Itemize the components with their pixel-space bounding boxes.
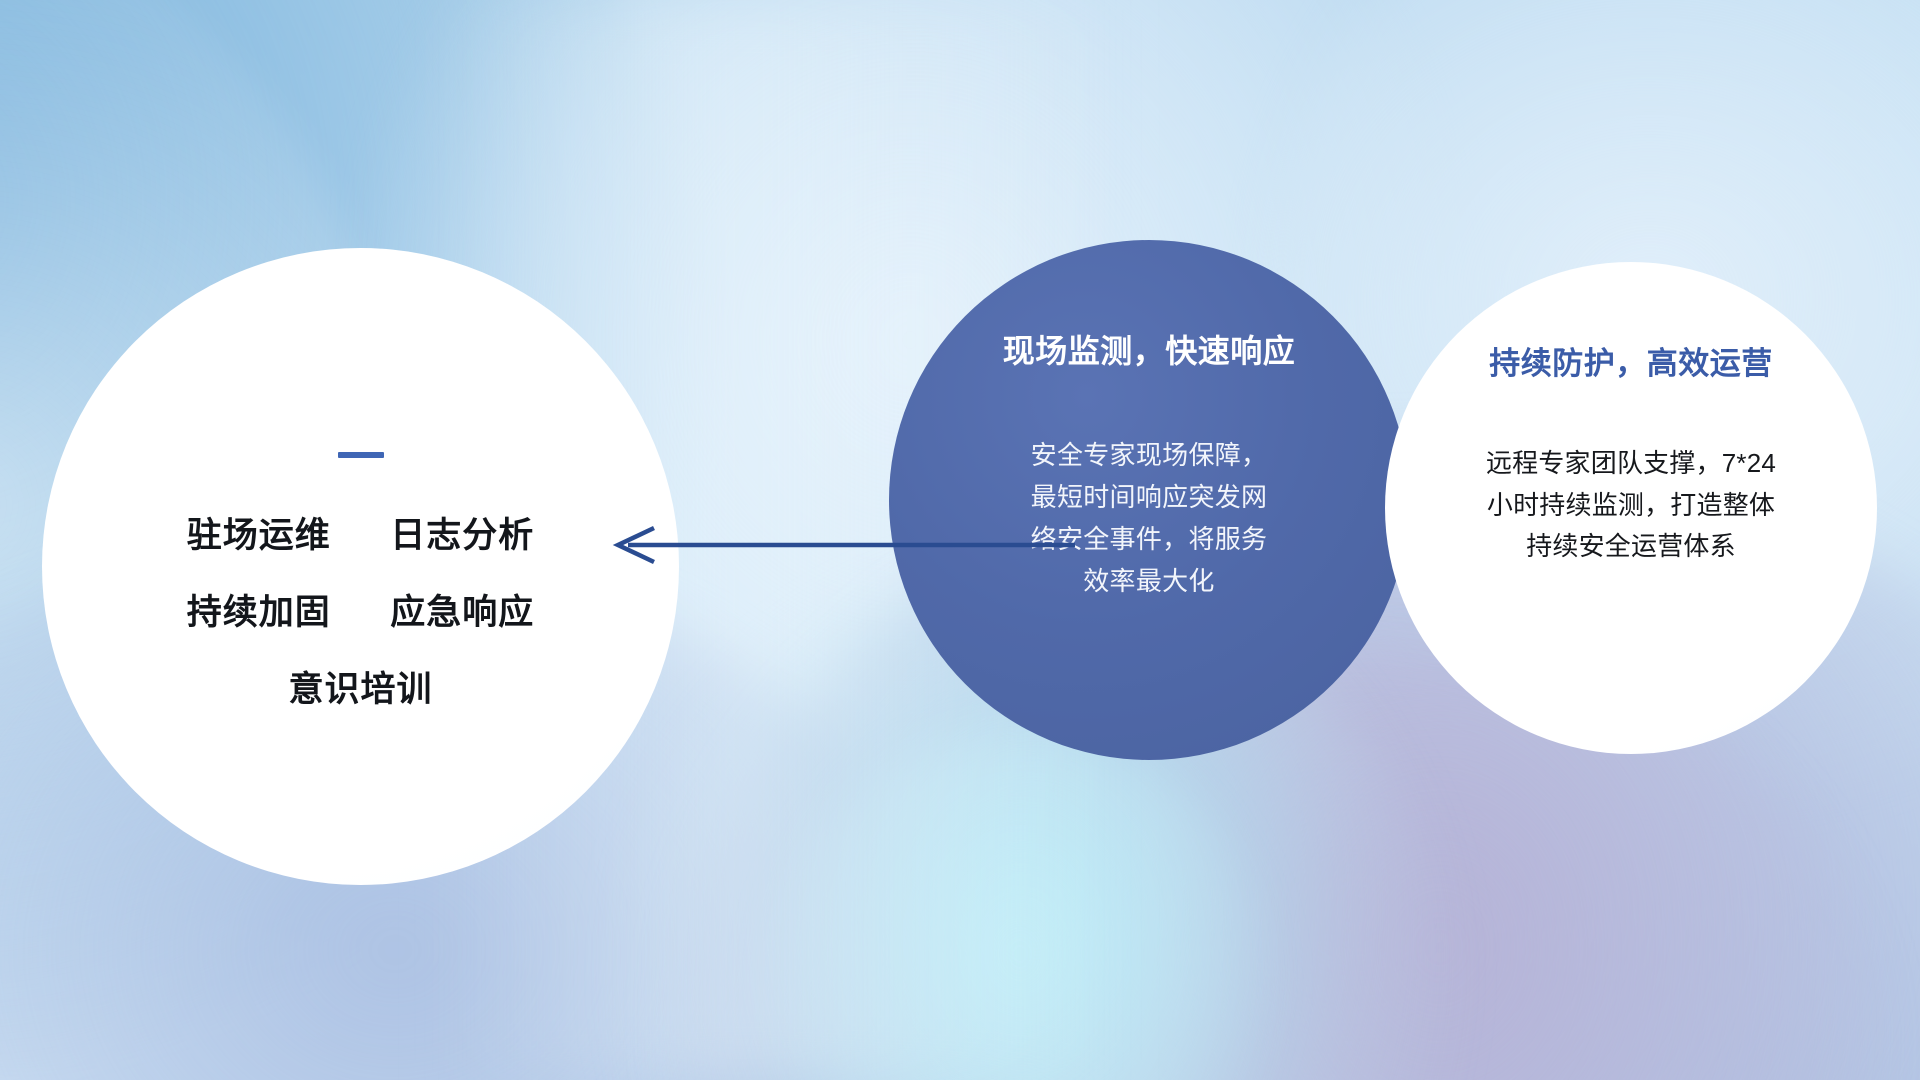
- right-circle-title: 持续防护，高效运营: [1489, 338, 1773, 383]
- diagram-canvas: 驻场运维 日志分析 持续加固 应急响应 意识培训 现场监测，快速响应 安全专家现…: [0, 0, 1920, 1080]
- divider-dash-icon: [338, 452, 384, 458]
- left-circle-row-1: 驻场运维 日志分析: [187, 518, 535, 553]
- middle-body-line: 最短时间响应突发网: [989, 476, 1309, 518]
- right-body-line: 小时持续监测，打造整体: [1415, 485, 1847, 527]
- middle-circle-title: 现场监测，快速响应: [1003, 326, 1296, 372]
- left-circle[interactable]: 驻场运维 日志分析 持续加固 应急响应 意识培训: [42, 248, 679, 885]
- flow-arrow-icon: [600, 515, 1080, 575]
- right-circle-body: 远程专家团队支撑，7*24 小时持续监测，打造整体 持续安全运营体系: [1415, 443, 1847, 568]
- middle-body-line: 安全专家现场保障，: [989, 434, 1309, 476]
- left-circle-row-3: 意识培训: [288, 672, 432, 707]
- tag-chixu-jiagu: 持续加固: [187, 593, 331, 632]
- left-circle-row-2: 持续加固 应急响应: [187, 595, 535, 630]
- tag-yingji-xiangying: 应急响应: [390, 593, 534, 632]
- tag-zhuchang-yunwei: 驻场运维: [187, 516, 331, 555]
- right-circle[interactable]: 持续防护，高效运营 远程专家团队支撑，7*24 小时持续监测，打造整体 持续安全…: [1385, 262, 1877, 754]
- tag-yishi-peixun: 意识培训: [288, 670, 432, 709]
- right-body-line: 远程专家团队支撑，7*24: [1415, 443, 1847, 485]
- middle-circle[interactable]: 现场监测，快速响应 安全专家现场保障， 最短时间响应突发网 络安全事件，将服务 …: [889, 240, 1409, 760]
- right-body-line: 持续安全运营体系: [1415, 526, 1847, 568]
- tag-rizhi-fenxi: 日志分析: [390, 516, 534, 555]
